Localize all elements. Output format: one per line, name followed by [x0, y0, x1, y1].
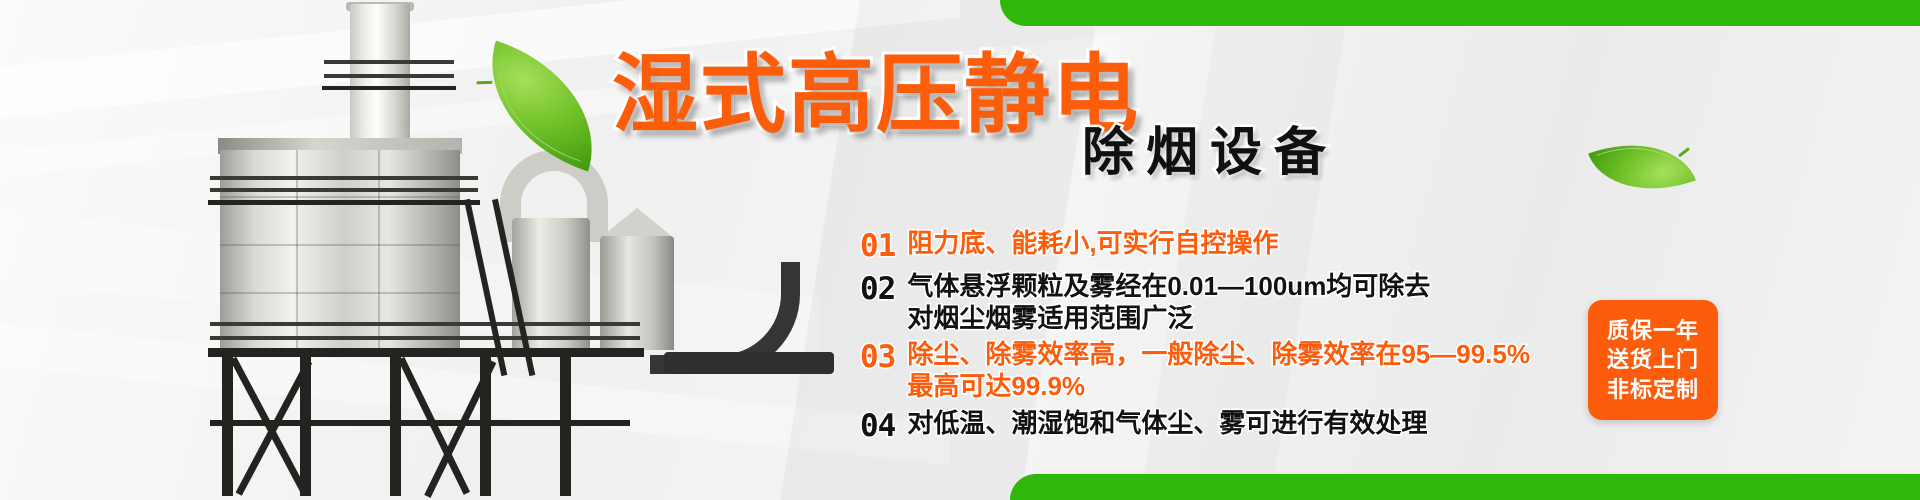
- feature-line: 最高可达99.9%: [907, 371, 1530, 403]
- feature-line: 阻力底、能耗小,可实行自控操作: [907, 228, 1278, 258]
- feature-text: 阻力底、能耗小,可实行自控操作: [907, 228, 1278, 260]
- promo-banner: 湿式高压静电 除烟设备 01 阻力底、能耗小,可实行自控操作 02 气体悬浮颗粒…: [0, 0, 1920, 500]
- feature-item: 04 对低温、潮湿饱和气体尘、雾可进行有效处理: [860, 408, 1580, 446]
- feature-number: 03: [860, 339, 895, 377]
- feature-item: 03 除尘、除雾效率高，一般除尘、除雾效率在95—99.5% 最高可达99.9%: [860, 339, 1580, 402]
- feature-line: 除尘、除雾效率高，一般除尘、除雾效率在95—99.5%: [907, 339, 1530, 369]
- green-accent-bottom: [1010, 474, 1920, 500]
- badge-line-delivery: 送货上门: [1607, 345, 1699, 374]
- feature-number: 01: [860, 228, 895, 266]
- feature-list: 01 阻力底、能耗小,可实行自控操作 02 气体悬浮颗粒及雾经在0.01—100…: [860, 228, 1580, 451]
- leaf-icon: [1588, 122, 1696, 212]
- feature-item: 02 气体悬浮颗粒及雾经在0.01—100um均可除去 对烟尘烟雾适用范围广泛: [860, 271, 1580, 334]
- page-subtitle: 除烟设备: [1082, 110, 1338, 185]
- feature-line: 对烟尘烟雾适用范围广泛: [907, 303, 1430, 335]
- feature-line: 对低温、潮湿饱和气体尘、雾可进行有效处理: [907, 408, 1427, 438]
- badge-line-warranty: 质保一年: [1607, 316, 1699, 345]
- feature-number: 02: [860, 271, 895, 309]
- feature-line: 气体悬浮颗粒及雾经在0.01—100um均可除去: [907, 271, 1430, 301]
- page-title: 湿式高压静电: [612, 52, 1140, 138]
- green-accent-top: [1000, 0, 1920, 26]
- feature-number: 04: [860, 408, 895, 446]
- feature-text: 对低温、潮湿饱和气体尘、雾可进行有效处理: [907, 408, 1427, 440]
- headline-group: 湿式高压静电 除烟设备: [612, 52, 1140, 138]
- feature-text: 除尘、除雾效率高，一般除尘、除雾效率在95—99.5% 最高可达99.9%: [907, 339, 1530, 402]
- feature-item: 01 阻力底、能耗小,可实行自控操作: [860, 228, 1580, 266]
- badge-line-custom: 非标定制: [1607, 375, 1699, 404]
- feature-text: 气体悬浮颗粒及雾经在0.01—100um均可除去 对烟尘烟雾适用范围广泛: [907, 271, 1430, 334]
- service-promise-badge: 质保一年 送货上门 非标定制: [1588, 300, 1718, 420]
